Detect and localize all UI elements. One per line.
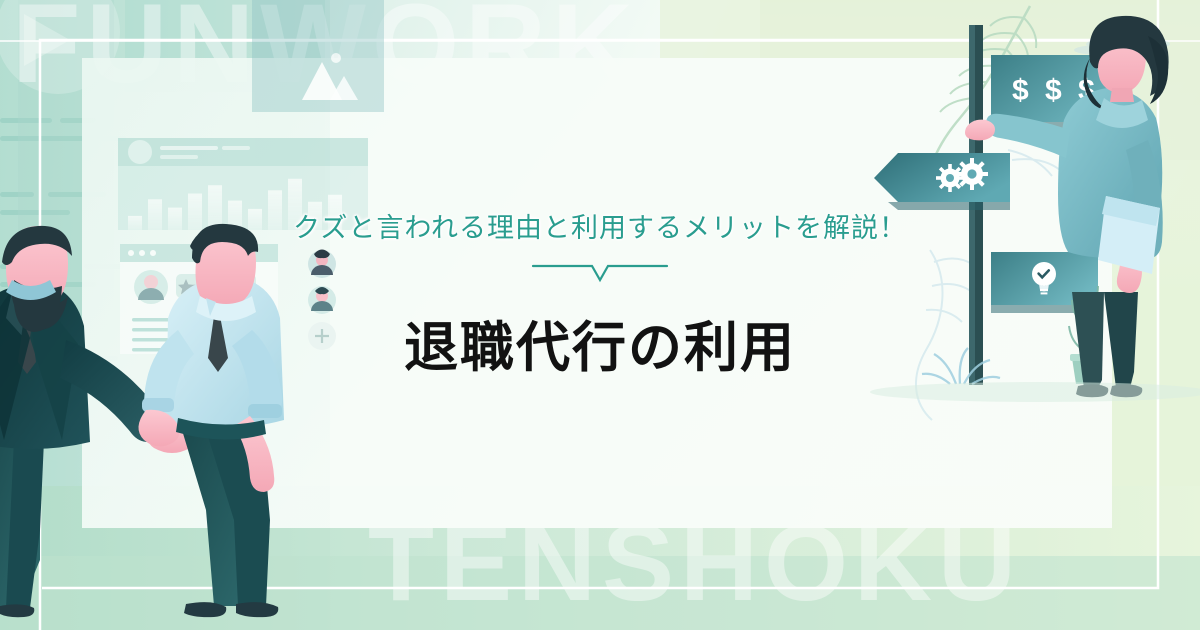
review-avatar (134, 270, 168, 304)
avatar (308, 286, 336, 314)
thumbnail-canvas: FUNWORK TENSHOKU (0, 0, 1200, 630)
image-placeholder (252, 0, 384, 112)
analytics-card (118, 138, 368, 230)
ground-shadow (870, 382, 1200, 402)
avatar-stack (308, 250, 336, 351)
folder (1098, 196, 1160, 274)
background-art: FUNWORK TENSHOKU (0, 0, 1200, 630)
add-avatar-button (308, 322, 336, 350)
